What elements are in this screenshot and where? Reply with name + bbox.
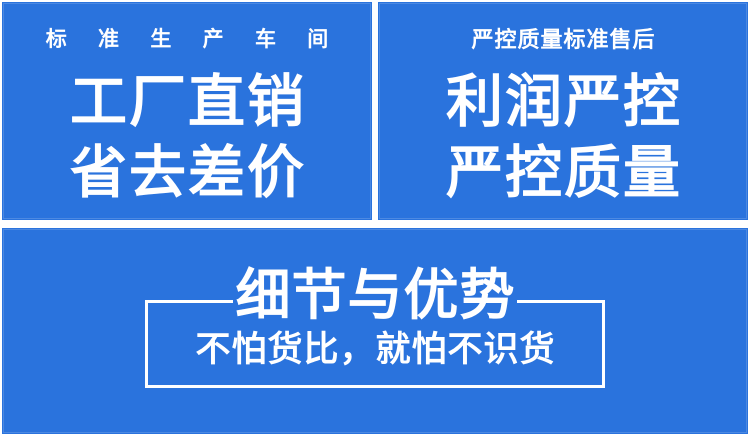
details-subtitle: 不怕货比，就怕不识货 bbox=[2, 333, 748, 368]
panel-quality-control-eyebrow: 严控质量标准售后 bbox=[378, 30, 748, 52]
panel-factory-direct-eyebrow: 标 准 生 产 车 间 bbox=[2, 29, 372, 50]
panel-quality-control: 严控质量标准售后 利润严控 严控质量 bbox=[378, 2, 748, 220]
panel-details-advantages: 细节与优势 不怕货比，就怕不识货 bbox=[2, 228, 748, 434]
panel-factory-direct: 标 准 生 产 车 间 工厂直销 省去差价 bbox=[2, 2, 372, 220]
promo-banner: 标 准 生 产 车 间 工厂直销 省去差价 严控质量标准售后 利润严控 严控质量… bbox=[0, 0, 750, 440]
panel-quality-control-headline-line2: 严控质量 bbox=[378, 145, 748, 202]
panel-factory-direct-headline-line1: 工厂直销 bbox=[2, 74, 372, 131]
panel-factory-direct-headline-line2: 省去差价 bbox=[2, 145, 372, 202]
panel-quality-control-headline-line1: 利润严控 bbox=[378, 74, 748, 131]
details-headline: 细节与优势 bbox=[2, 268, 748, 323]
